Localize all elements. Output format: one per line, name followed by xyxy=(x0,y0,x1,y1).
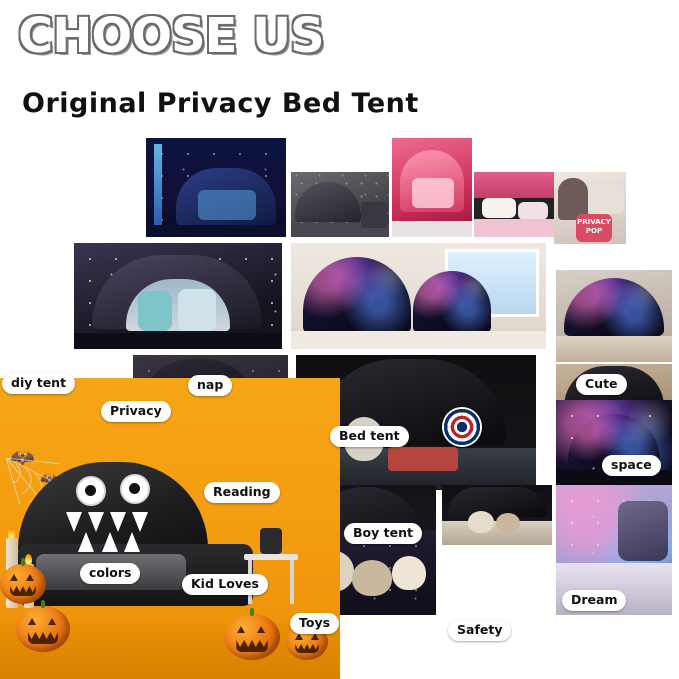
pumpkin xyxy=(224,614,280,660)
label-kid-loves: Kid Loves xyxy=(182,574,268,595)
photo-kids-in-tent xyxy=(74,243,282,349)
label-boy-tent: Boy tent xyxy=(344,523,422,544)
photo-blue-galaxy-room xyxy=(146,138,286,237)
photo-safety-tent xyxy=(442,485,552,545)
label-toys: Toys xyxy=(290,613,339,634)
label-reading: Reading xyxy=(204,482,280,503)
photo-halloween-monster-tent: 🦇 🦇 xyxy=(0,378,340,679)
page-subtitle: Original Privacy Bed Tent xyxy=(22,88,419,119)
label-diy-tent: diy tent xyxy=(2,373,75,394)
label-privacy: Privacy xyxy=(101,401,171,422)
label-space: space xyxy=(602,455,661,476)
photo-pink-tent xyxy=(392,138,472,237)
pumpkin xyxy=(16,606,70,652)
label-cute: Cute xyxy=(576,374,627,395)
photo-galaxy-tent-bunk xyxy=(556,270,672,362)
flame-icon xyxy=(8,528,15,540)
photo-privacy-pop-badge: PRIVACYPOP xyxy=(554,172,626,244)
label-safety: Safety xyxy=(448,620,511,641)
label-dream: Dream xyxy=(562,590,626,611)
label-colors: colors xyxy=(80,563,140,584)
poster-canvas: CHOOSE US Original Privacy Bed Tent xyxy=(0,0,679,679)
label-nap: nap xyxy=(188,375,232,396)
page-title: CHOOSE US xyxy=(18,8,324,64)
label-bed-tent: Bed tent xyxy=(330,426,409,447)
pumpkin xyxy=(0,564,46,604)
photo-galaxy-tent-window xyxy=(291,243,546,349)
photo-grey-star-tent xyxy=(291,172,389,237)
privacy-pop-badge: PRIVACYPOP xyxy=(576,214,612,242)
